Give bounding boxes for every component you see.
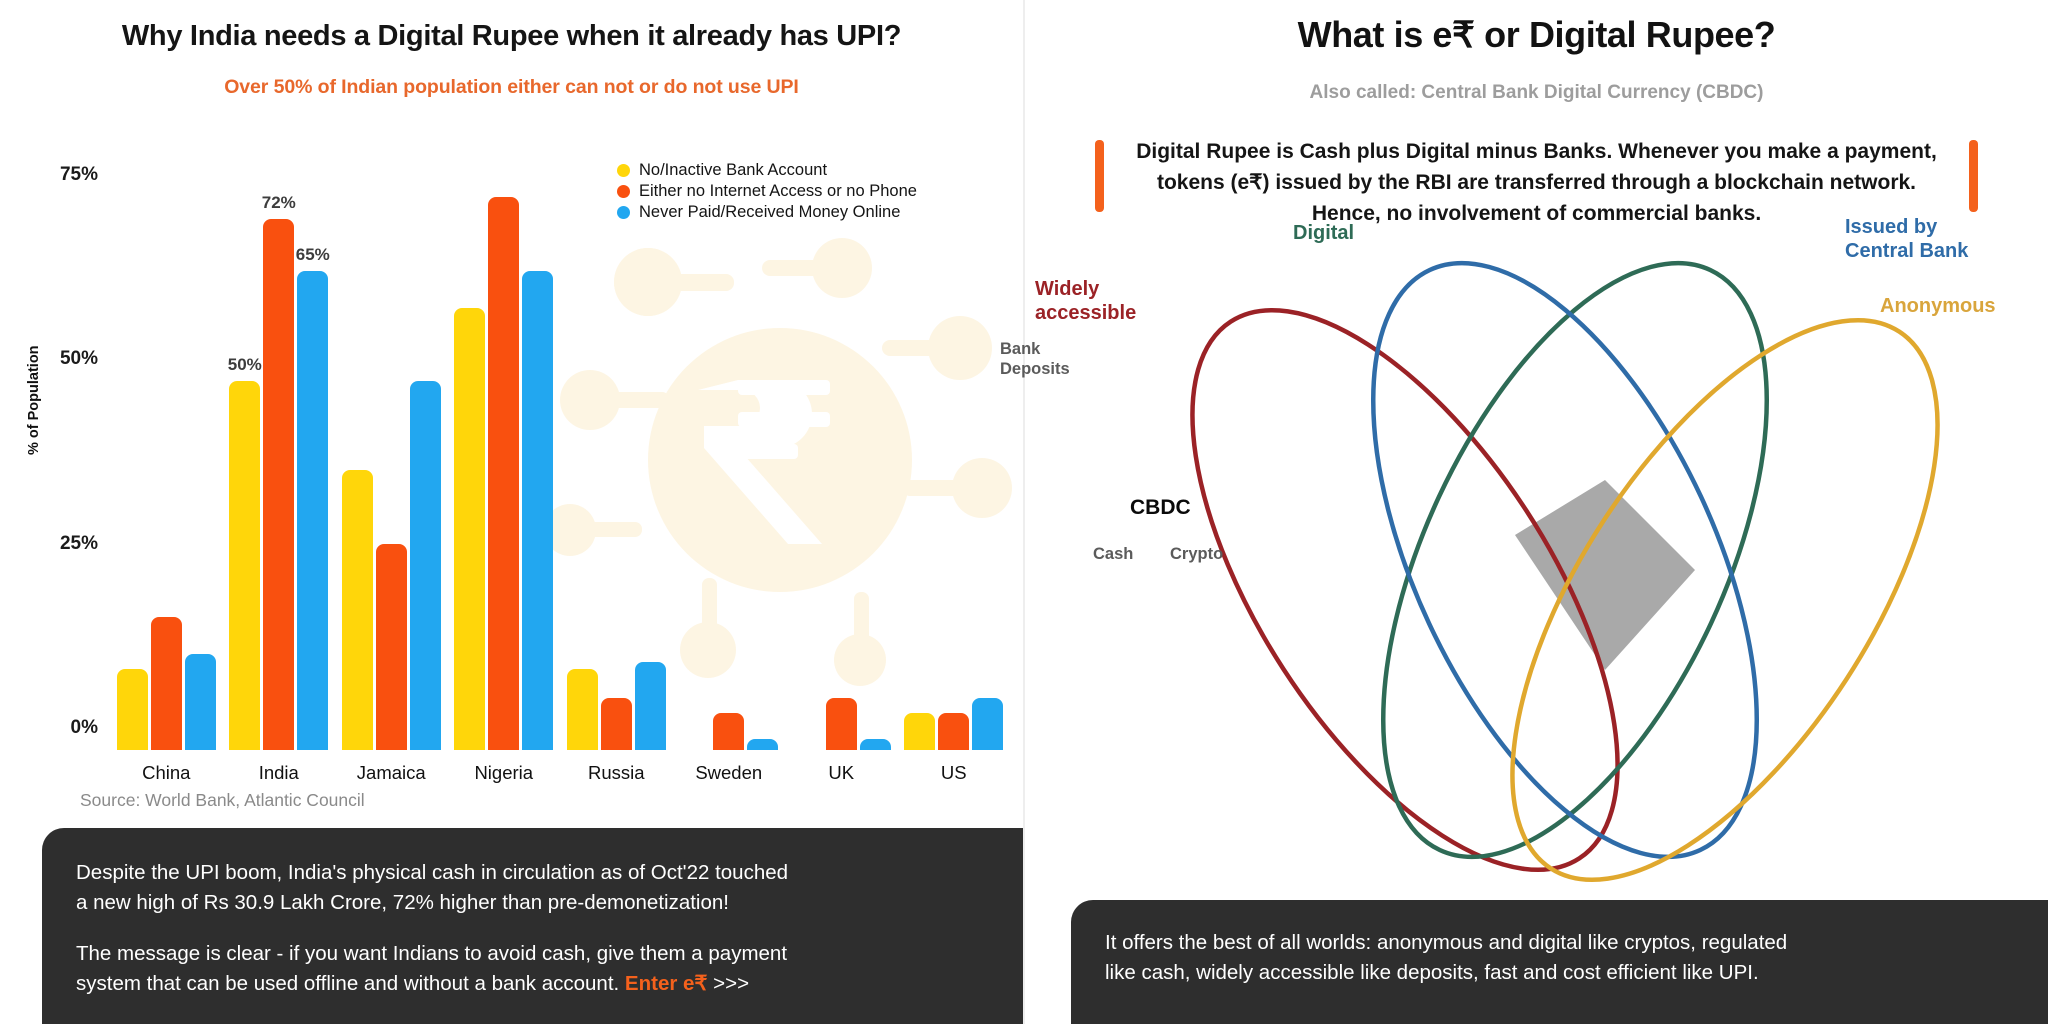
left-panel: Why India needs a Digital Rupee when it … xyxy=(0,0,1023,1024)
bar-nigeria-1[interactable] xyxy=(488,197,519,750)
bar-uk-2[interactable] xyxy=(860,739,891,750)
bar-china-1[interactable] xyxy=(151,617,182,750)
bar-india-2[interactable]: 65% xyxy=(297,271,328,750)
bar-value-label: 72% xyxy=(262,193,296,213)
bar-nigeria-2[interactable] xyxy=(522,271,553,750)
bar-group xyxy=(567,662,666,751)
bar-china-2[interactable] xyxy=(185,654,216,750)
quote-bar-right-icon xyxy=(1969,140,1978,212)
bar-us-1[interactable] xyxy=(938,713,969,750)
right-callout-box: It offers the best of all worlds: anonym… xyxy=(1071,900,2048,1024)
bar-russia-1[interactable] xyxy=(601,698,632,750)
bar-uk-1[interactable] xyxy=(826,698,857,750)
bar-jamaica-1[interactable] xyxy=(376,544,407,751)
venn-issued-line2: Central Bank xyxy=(1845,240,1968,262)
bar-russia-2[interactable] xyxy=(635,662,666,751)
x-axis-tick-india: India xyxy=(259,762,299,784)
venn-label-crypto: Crypto xyxy=(1170,545,1223,565)
ellipse-anonymous xyxy=(1429,253,2021,890)
x-axis-tick-jamaica: Jamaica xyxy=(357,762,426,784)
bar-group xyxy=(792,698,891,750)
y-axis-tick: 50% xyxy=(60,348,98,370)
bar-sweden-1[interactable] xyxy=(713,713,744,750)
y-axis-label: % of Population xyxy=(26,345,42,455)
bar-jamaica-2[interactable] xyxy=(410,381,441,750)
quote-bar-left-icon xyxy=(1095,140,1104,212)
bar-group xyxy=(342,381,441,750)
bar-russia-0[interactable] xyxy=(567,669,598,750)
bar-us-0[interactable] xyxy=(904,713,935,750)
bar-group: 50%72%65% xyxy=(229,219,328,750)
left-callout-para-2: The message is clear - if you want India… xyxy=(76,939,1018,999)
venn-label-issued-by-central-bank: Issued by Central Bank xyxy=(1845,216,1968,263)
x-axis-tick-china: China xyxy=(142,762,190,784)
left-callout-line-2: a new high of Rs 30.9 Lakh Crore, 72% hi… xyxy=(76,891,729,914)
callout-spacer xyxy=(76,918,1018,939)
venn-label-widely-accessible: Widely accessible xyxy=(1035,278,1136,325)
bar-india-0[interactable]: 50% xyxy=(229,381,260,750)
bar-nigeria-0[interactable] xyxy=(454,308,485,751)
chart-source: Source: World Bank, Atlantic Council xyxy=(80,790,365,811)
x-axis-tick-us: US xyxy=(941,762,967,784)
left-panel-subtitle: Over 50% of Indian population either can… xyxy=(0,76,1023,99)
y-axis-tick: 0% xyxy=(71,717,98,739)
venn-bank-line1: Bank xyxy=(1000,340,1040,358)
y-axis-tick: 25% xyxy=(60,533,98,555)
right-panel-subtitle: Also called: Central Bank Digital Curren… xyxy=(1025,82,2048,104)
intro-text: Digital Rupee is Cash plus Digital minus… xyxy=(1133,136,1940,229)
left-callout-box: Despite the UPI boom, India's physical c… xyxy=(42,828,1023,1024)
x-axis-tick-russia: Russia xyxy=(588,762,645,784)
x-axis-tick-nigeria: Nigeria xyxy=(474,762,533,784)
bar-group xyxy=(117,617,216,750)
left-callout-chevrons: >>> xyxy=(707,972,749,995)
venn-widely-line1: Widely xyxy=(1035,278,1099,300)
right-callout-line-1: It offers the best of all worlds: anonym… xyxy=(1105,931,1787,954)
x-axis-tick-uk: UK xyxy=(828,762,854,784)
bar-india-1[interactable]: 72% xyxy=(263,219,294,750)
venn-label-digital: Digital xyxy=(1293,222,1354,246)
venn-label-bank-deposits: Bank Deposits xyxy=(1000,340,1070,380)
left-panel-title: Why India needs a Digital Rupee when it … xyxy=(0,20,1023,53)
venn-label-cbdc: CBDC xyxy=(1130,495,1191,520)
bar-chart-plot-area: 0%25%50%75%China50%72%65%IndiaJamaicaNig… xyxy=(110,150,1010,750)
bar-group xyxy=(454,197,553,750)
left-callout-line-4: system that can be used offline and with… xyxy=(76,972,625,995)
right-callout-para: It offers the best of all worlds: anonym… xyxy=(1105,928,2037,988)
bar-us-2[interactable] xyxy=(972,698,1003,750)
venn-bank-line2: Deposits xyxy=(1000,360,1070,378)
bar-group xyxy=(679,713,778,750)
venn-issued-line1: Issued by xyxy=(1845,216,1937,238)
y-axis-tick: 75% xyxy=(60,164,98,186)
right-callout-line-2: like cash, widely accessible like deposi… xyxy=(1105,961,1759,984)
venn-label-cash: Cash xyxy=(1093,545,1133,565)
infographic-root: Why India needs a Digital Rupee when it … xyxy=(0,0,2048,1024)
bar-sweden-2[interactable] xyxy=(747,739,778,750)
bar-china-0[interactable] xyxy=(117,669,148,750)
left-callout-line-1: Despite the UPI boom, India's physical c… xyxy=(76,861,788,884)
enter-erupee-link[interactable]: Enter e₹ xyxy=(625,972,708,995)
left-callout-line-3: The message is clear - if you want India… xyxy=(76,942,787,965)
bar-jamaica-0[interactable] xyxy=(342,470,373,750)
left-callout-para-1: Despite the UPI boom, India's physical c… xyxy=(76,858,1018,918)
right-panel-title: What is e₹ or Digital Rupee? xyxy=(1025,14,2048,56)
venn-label-anonymous: Anonymous xyxy=(1880,295,1996,319)
bar-value-label: 65% xyxy=(296,245,330,265)
bar-value-label: 50% xyxy=(228,355,262,375)
venn-widely-line2: accessible xyxy=(1035,302,1136,324)
x-axis-tick-sweden: Sweden xyxy=(695,762,762,784)
bar-group xyxy=(904,698,1003,750)
